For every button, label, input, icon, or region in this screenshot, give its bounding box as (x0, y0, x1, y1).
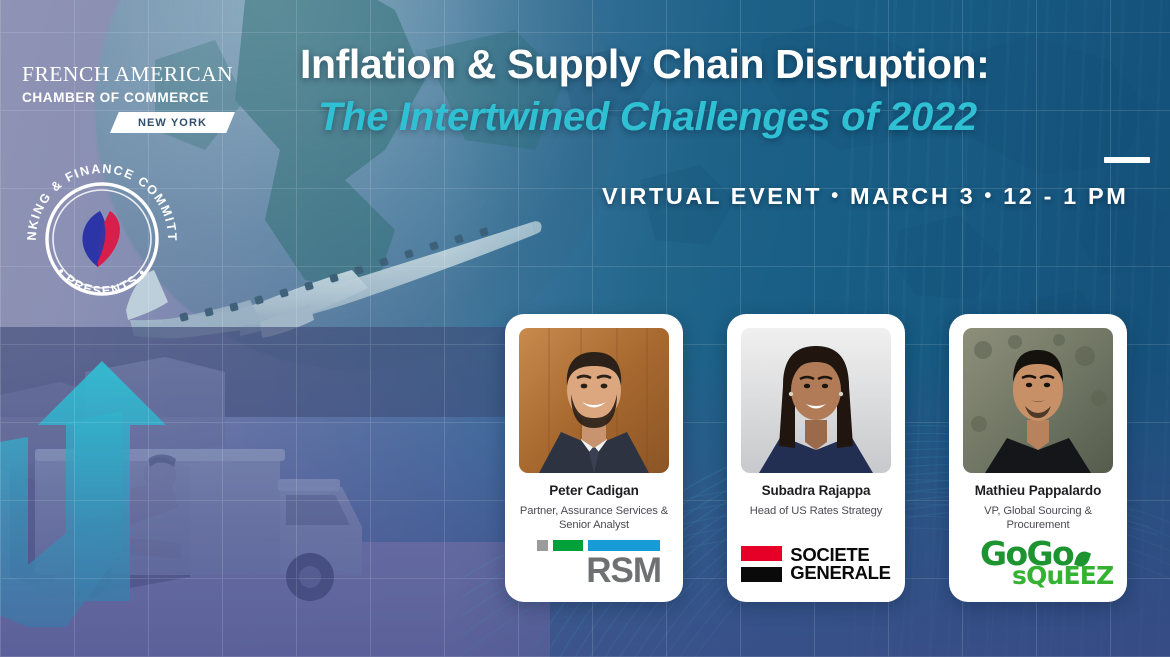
speaker-card: Subadra Rajappa Head of US Rates Strateg… (727, 314, 905, 602)
company-logo-rsm: RSM (516, 536, 672, 592)
facc-location-badge: NEW YORK (110, 112, 235, 133)
rsm-bar-green (553, 540, 583, 551)
speaker-name: Subadra Rajappa (762, 484, 871, 499)
societe-generale-mark (741, 546, 782, 582)
rsm-wordmark: RSM (525, 553, 663, 588)
sg-red-block (741, 546, 782, 561)
facc-logo-line1: FRENCH AMERICAN (22, 62, 237, 87)
meta-separator-1: • (831, 185, 841, 207)
meta-separator-2: • (984, 185, 994, 207)
facc-logo-line2: CHAMBER OF COMMERCE (22, 90, 237, 105)
gogo-wordmark-bottom: sQuEEZ (1012, 563, 1113, 588)
speaker-title: VP, Global Sourcing & Procurement (960, 504, 1116, 533)
speaker-title: Partner, Assurance Services & Senior Ana… (516, 504, 672, 533)
rsm-logo-bars (525, 540, 663, 551)
speaker-photo (741, 328, 891, 473)
facc-logo: FRENCH AMERICAN CHAMBER OF COMMERCE NEW … (22, 62, 237, 133)
speaker-title: Head of US Rates Strategy (748, 504, 884, 518)
speaker-name: Mathieu Pappalardo (975, 484, 1101, 499)
sg-black-block (741, 567, 782, 582)
event-time-label: 12 - 1 PM (1003, 183, 1128, 209)
event-type-label: VIRTUAL EVENT (602, 183, 822, 209)
speaker-photo (963, 328, 1113, 473)
sg-wordmark-line2: GENERALE (790, 564, 890, 583)
event-date-label: MARCH 3 (850, 183, 975, 209)
headline-block: Inflation & Supply Chain Disruption: The… (300, 44, 1150, 210)
rsm-bar-blue (588, 540, 660, 551)
speaker-card: Peter Cadigan Partner, Assurance Service… (505, 314, 683, 602)
banking-finance-committee-seal: BANKING & FINANCE COMMITTEE • PRESENTS • (18, 155, 186, 323)
event-meta: VIRTUAL EVENT • MARCH 3 • 12 - 1 PM (602, 183, 1150, 210)
facc-location-label: NEW YORK (138, 117, 207, 129)
headline-divider (1104, 157, 1150, 163)
speaker-card: Mathieu Pappalardo VP, Global Sourcing &… (949, 314, 1127, 602)
event-subtitle: The Intertwined Challenges of 2022 (318, 97, 1150, 137)
company-logo-gogo-squeez: GoGo sQuEEZ (960, 536, 1116, 592)
company-logo-societe-generale: SOCIETE GENERALE (738, 536, 894, 592)
speaker-name: Peter Cadigan (549, 484, 638, 499)
speaker-cards: Peter Cadigan Partner, Assurance Service… (505, 314, 1155, 602)
svg-text:• PRESENTS •: • PRESENTS • (54, 265, 149, 298)
speaker-photo (519, 328, 669, 473)
rsm-bar-gray (537, 540, 548, 551)
event-title: Inflation & Supply Chain Disruption: (300, 44, 1150, 85)
societe-generale-wordmark: SOCIETE GENERALE (790, 546, 890, 583)
